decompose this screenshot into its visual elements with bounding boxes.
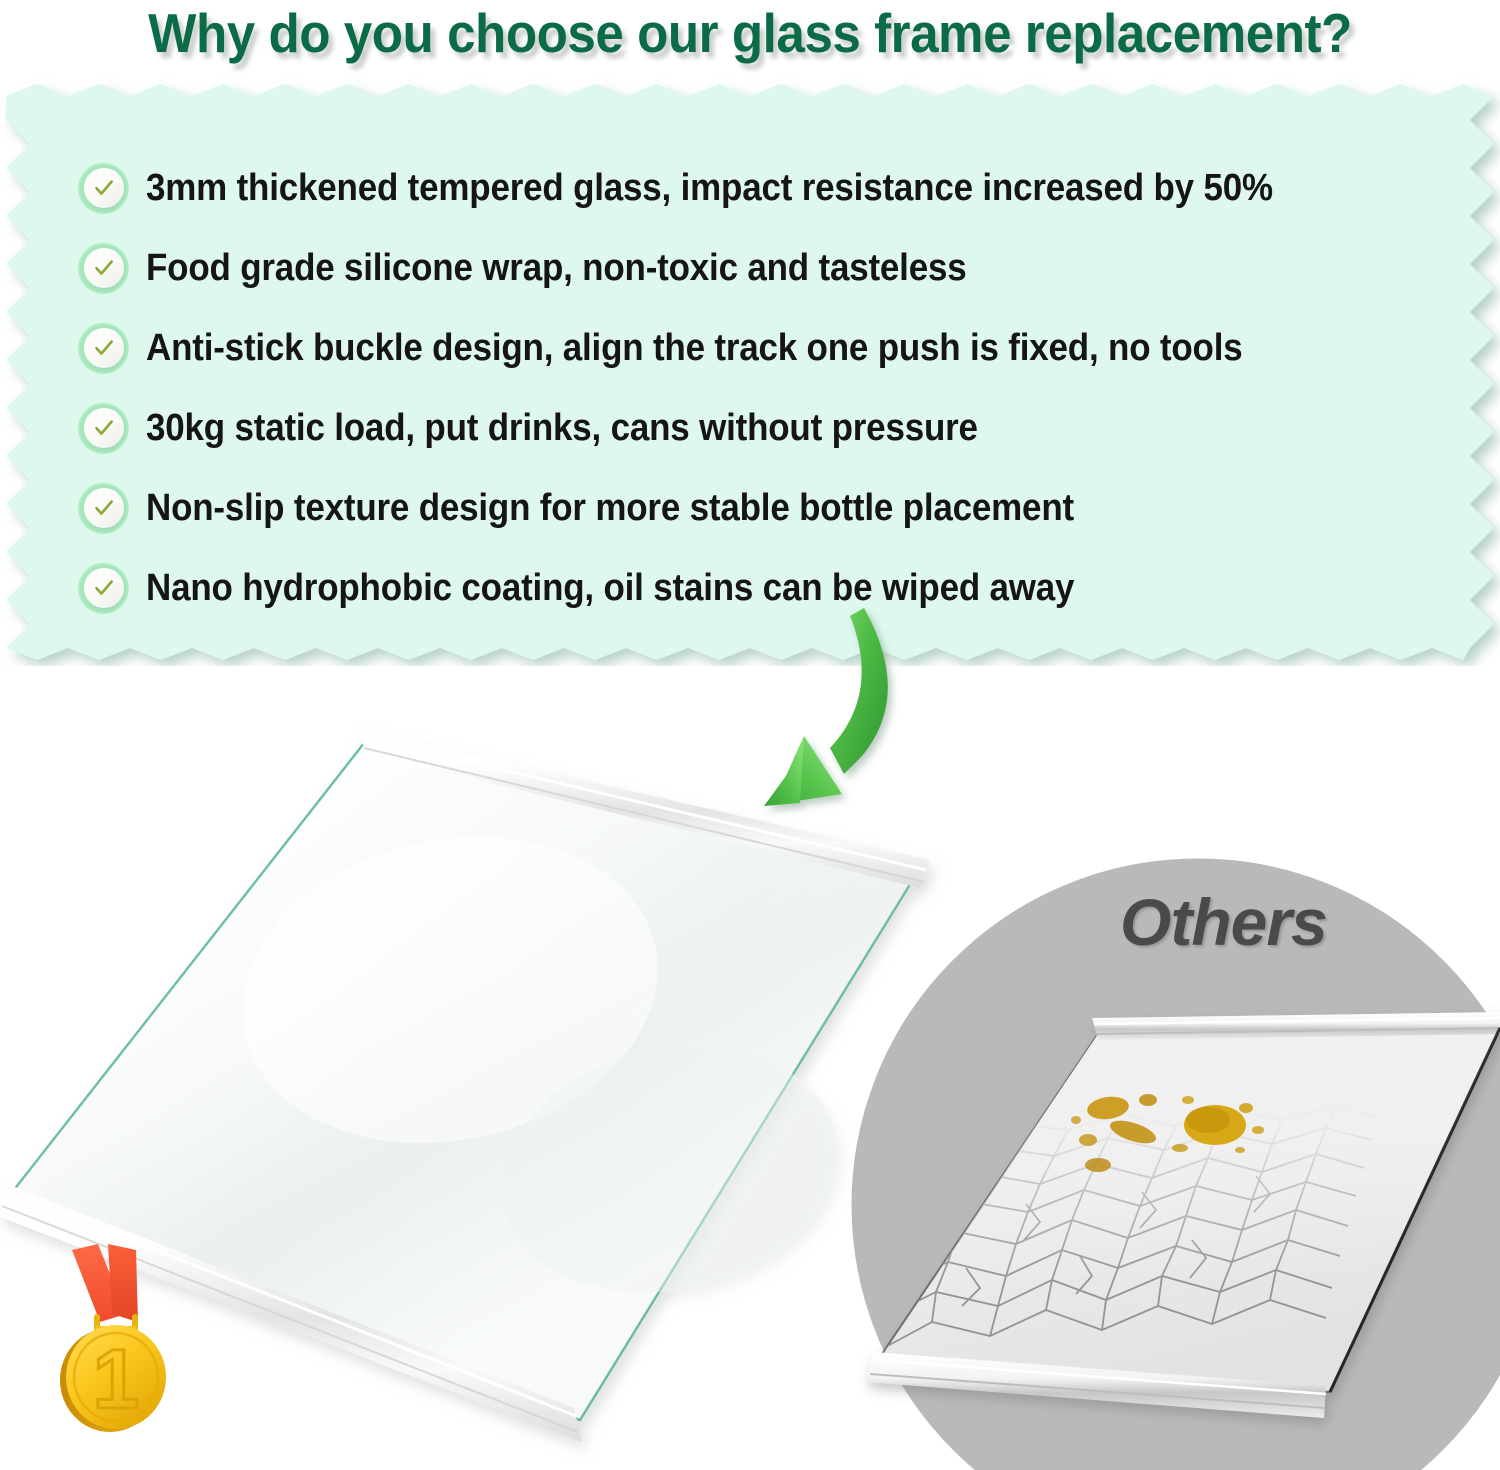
page-title: Why do you choose our glass frame replac… bbox=[53, 2, 1448, 65]
check-circle-icon bbox=[78, 563, 129, 614]
check-circle-icon bbox=[78, 243, 129, 294]
feature-item: Anti-stick buckle design, align the trac… bbox=[78, 308, 1438, 388]
feature-label: Food grade silicone wrap, non-toxic and … bbox=[146, 249, 966, 287]
feature-label: 30kg static load, put drinks, cans witho… bbox=[146, 409, 978, 447]
check-circle-icon bbox=[78, 323, 129, 374]
feature-item: 3mm thickened tempered glass, impact res… bbox=[78, 148, 1438, 228]
check-circle-icon bbox=[78, 403, 129, 454]
feature-item: 30kg static load, put drinks, cans witho… bbox=[78, 388, 1438, 468]
glass-shelf-cracked-stained-icon bbox=[840, 1000, 1500, 1470]
svg-text:1: 1 bbox=[93, 1332, 140, 1426]
feature-item: Non-slip texture design for more stable … bbox=[78, 468, 1438, 548]
feature-list: 3mm thickened tempered glass, impact res… bbox=[78, 148, 1438, 628]
gold-medal-first-place-icon: 1 bbox=[38, 1222, 198, 1437]
check-circle-icon bbox=[78, 483, 129, 534]
feature-item: Food grade silicone wrap, non-toxic and … bbox=[78, 228, 1438, 308]
feature-label: 3mm thickened tempered glass, impact res… bbox=[146, 169, 1273, 207]
feature-label: Anti-stick buckle design, align the trac… bbox=[146, 329, 1243, 367]
infographic-page: Why do you choose our glass frame replac… bbox=[0, 0, 1500, 1470]
others-label: Others bbox=[1120, 884, 1327, 960]
feature-label: Non-slip texture design for more stable … bbox=[146, 489, 1074, 527]
check-circle-icon bbox=[78, 163, 129, 214]
